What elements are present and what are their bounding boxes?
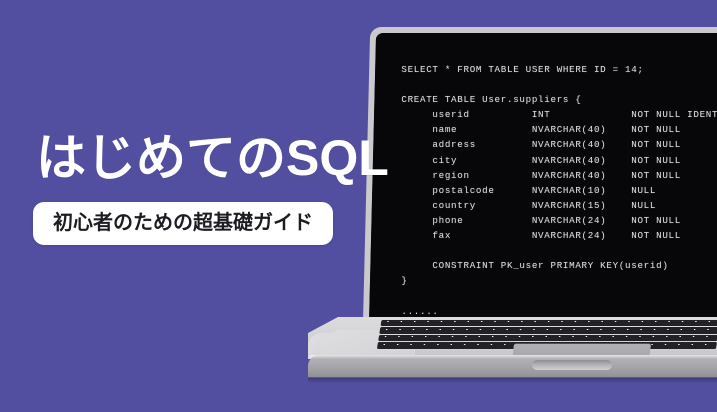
sql-code-block: SELECT * FROM TABLE USER WHERE ID = 14; …: [401, 62, 717, 319]
laptop-front-notch: [532, 360, 612, 370]
sql-guide-banner: はじめてのSQL 初心者のための超基礎ガイド SELECT * FROM TAB…: [0, 0, 717, 412]
laptop-front-edge-highlight: [308, 355, 717, 359]
banner-text-block: はじめてのSQL 初心者のための超基礎ガイド: [33, 128, 363, 245]
page-title: はじめてのSQL: [36, 128, 363, 188]
laptop-drop-shadow: [308, 377, 717, 383]
laptop-screen: SELECT * FROM TABLE USER WHERE ID = 14; …: [369, 33, 717, 322]
laptop-bezel: SELECT * FROM TABLE USER WHERE ID = 14; …: [369, 33, 717, 322]
subtitle-badge: 初心者のための超基礎ガイド: [33, 202, 333, 245]
keyboard-row: [379, 327, 717, 333]
laptop-keyboard: [378, 320, 717, 342]
keyboard-row: [378, 335, 717, 341]
keyboard-row: [380, 320, 717, 326]
laptop-lid: SELECT * FROM TABLE USER WHERE ID = 14; …: [363, 27, 717, 322]
